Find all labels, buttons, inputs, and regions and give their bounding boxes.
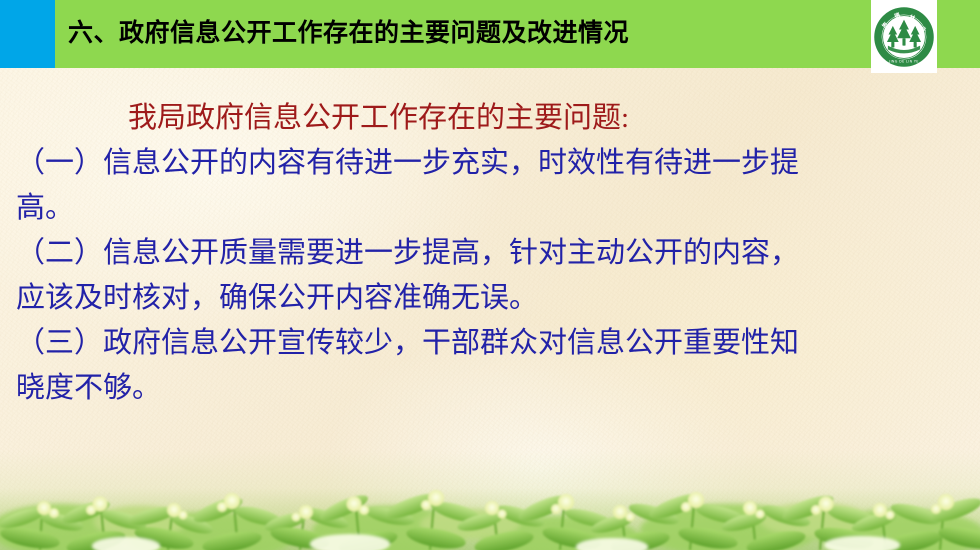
svg-text:JING DE LIN YE: JING DE LIN YE xyxy=(888,59,919,63)
paragraph-3-line-2: 晓度不够。 xyxy=(0,366,980,411)
paragraph-1-line-1: （一）信息公开的内容有待进一步充实，时效性有待进一步提 xyxy=(0,141,980,186)
bottom-foliage-decoration xyxy=(0,450,980,550)
paragraph-3-line-1: （三）政府信息公开宣传较少，干部群众对信息公开重要性知 xyxy=(0,321,980,366)
organization-logo: 旌 德 林 业 JING DE LIN YE xyxy=(871,0,937,73)
forestry-bureau-emblem-icon: 旌 德 林 业 JING DE LIN YE xyxy=(873,6,935,68)
slide-canvas: 六、政府信息公开工作存在的主要问题及改进情况 xyxy=(0,0,980,550)
body-heading: 我局政府信息公开工作存在的主要问题: xyxy=(0,96,980,141)
paragraph-1-line-2: 高。 xyxy=(0,186,980,231)
page-title: 六、政府信息公开工作存在的主要问题及改进情况 xyxy=(68,0,629,68)
slide-header: 六、政府信息公开工作存在的主要问题及改进情况 xyxy=(0,0,980,68)
paragraph-2-line-1: （二）信息公开质量需要进一步提高，针对主动公开的内容， xyxy=(0,231,980,276)
paragraph-2-line-2: 应该及时核对，确保公开内容准确无误。 xyxy=(0,276,980,321)
header-accent-block xyxy=(0,0,55,68)
foliage-plants-illustration xyxy=(0,450,980,550)
slide-body: 我局政府信息公开工作存在的主要问题: （一）信息公开的内容有待进一步充实，时效性… xyxy=(0,96,980,411)
